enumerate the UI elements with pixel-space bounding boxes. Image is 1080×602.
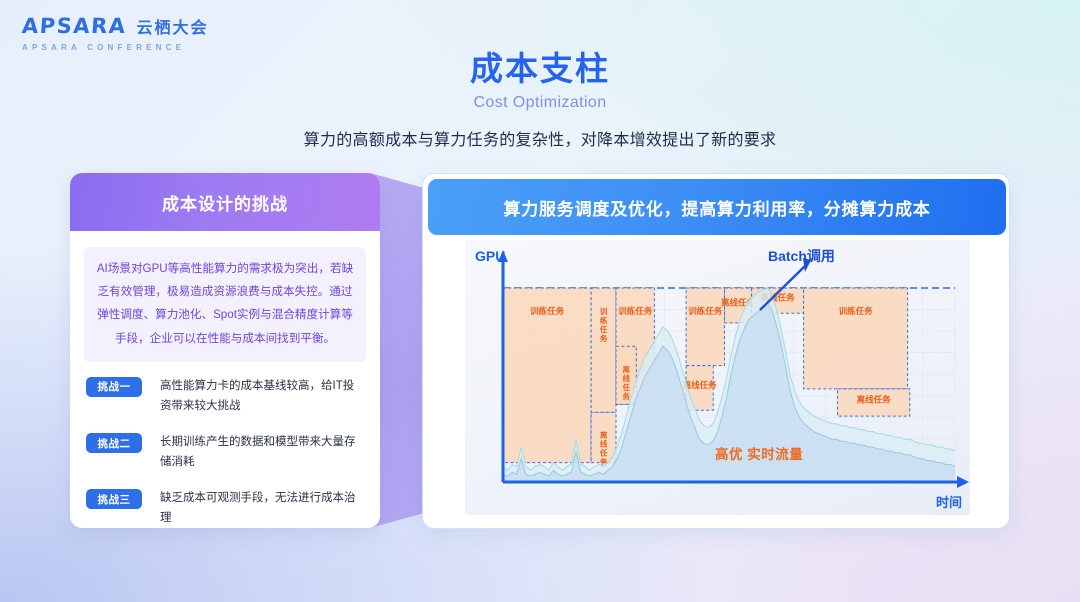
list-item: 挑战二 长期训练产生的数据和模型带来大量存储消耗 bbox=[86, 432, 364, 472]
svg-text:训练任务: 训练任务 bbox=[839, 306, 874, 316]
svg-text:训练任务: 训练任务 bbox=[530, 306, 565, 316]
svg-text:离线任务: 离线任务 bbox=[857, 395, 892, 405]
challenges-list: 挑战一 高性能算力卡的成本基线较高，给IT投资带来较大挑战 挑战二 长期训练产生… bbox=[86, 376, 364, 528]
annotation-realtime-traffic: 高优 实时流量 bbox=[715, 443, 803, 463]
chart-svg: 训练任务离线任务训练任务训练任务离线任务训练任务离线任务离线任务离线任务训练任务… bbox=[465, 240, 970, 515]
chart-x-axis-label: 时间 bbox=[936, 492, 962, 511]
page-subtitle: Cost Optimization bbox=[0, 94, 1080, 112]
challenges-card: 成本设计的挑战 AI场景对GPU等高性能算力的需求极为突出，若缺乏有效管理，极易… bbox=[70, 173, 380, 528]
apsara-logo: APSARA 云栖大会 APSARA CONFERENCE bbox=[22, 16, 208, 52]
solution-card: 算力服务调度及优化，提高算力利用率，分摊算力成本 训练任务离线任务训练任务训练任… bbox=[422, 173, 1010, 529]
challenge-text: 高性能算力卡的成本基线较高，给IT投资带来较大挑战 bbox=[160, 376, 364, 416]
svg-text:离线任务: 离线任务 bbox=[599, 429, 608, 466]
page-header: 成本支柱 Cost Optimization 算力的高额成本与算力任务的复杂性，… bbox=[0, 50, 1080, 150]
solution-card-title: 算力服务调度及优化，提高算力利用率，分摊算力成本 bbox=[503, 195, 930, 220]
status-badge: 挑战一 bbox=[86, 377, 142, 397]
challenge-text: 缺乏成本可观测手段，无法进行成本治理 bbox=[160, 488, 364, 528]
logo-chinese-text: 云栖大会 bbox=[136, 21, 208, 37]
challenges-lead-paragraph: AI场景对GPU等高性能算力的需求极为突出，若缺乏有效管理，极易造成资源浪费与成… bbox=[84, 247, 366, 362]
page-title: 成本支柱 bbox=[0, 50, 1080, 88]
status-badge: 挑战三 bbox=[86, 489, 142, 509]
challenges-card-header: 成本设计的挑战 bbox=[70, 173, 380, 231]
status-badge: 挑战二 bbox=[86, 433, 142, 453]
list-item: 挑战三 缺乏成本可观测手段，无法进行成本治理 bbox=[86, 488, 364, 528]
solution-card-header: 算力服务调度及优化，提高算力利用率，分摊算力成本 bbox=[428, 179, 1006, 235]
svg-text:离线任务: 离线任务 bbox=[621, 364, 630, 401]
gpu-utilization-chart: 训练任务离线任务训练任务训练任务离线任务训练任务离线任务离线任务离线任务训练任务… bbox=[465, 240, 970, 515]
chart-y-axis-label: GPU bbox=[475, 248, 505, 264]
challenge-text: 长期训练产生的数据和模型带来大量存储消耗 bbox=[160, 432, 364, 472]
svg-text:训练任务: 训练任务 bbox=[618, 306, 653, 316]
svg-text:训练任务: 训练任务 bbox=[599, 306, 608, 343]
annotation-batch-call: Batch调用 bbox=[768, 246, 835, 266]
logo-latin-text: APSARA bbox=[21, 16, 127, 37]
svg-text:训练任务: 训练任务 bbox=[688, 306, 723, 316]
challenges-card-title: 成本设计的挑战 bbox=[162, 190, 288, 215]
page-description: 算力的高额成本与算力任务的复杂性，对降本增效提出了新的要求 bbox=[0, 126, 1080, 150]
list-item: 挑战一 高性能算力卡的成本基线较高，给IT投资带来较大挑战 bbox=[86, 376, 364, 416]
